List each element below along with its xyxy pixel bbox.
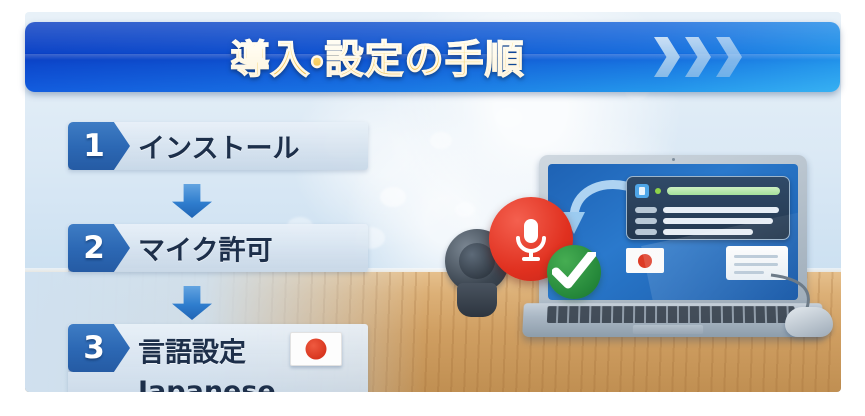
arrow-down-icon (172, 286, 212, 320)
header-banner: 導入・設定の手順 (25, 22, 840, 92)
bokeh-blob (495, 107, 523, 128)
step-sublabel: Japanese (138, 376, 276, 392)
laptop-trackpad (633, 325, 703, 334)
laptop-illustration (523, 155, 823, 355)
japan-flag-icon (290, 332, 342, 366)
bokeh-blob (430, 132, 452, 149)
dialog-label-bar (635, 218, 657, 224)
chevron-right-icon (654, 37, 680, 77)
check-glyph (552, 252, 596, 292)
step-label: インストール (138, 127, 299, 166)
bokeh-blob (455, 202, 475, 217)
highlight-field (667, 187, 780, 195)
step-label: 言語設定 (138, 331, 246, 370)
chevron-right-icon (685, 37, 711, 77)
dialog-field-bar (663, 229, 753, 235)
step-number: 3 (72, 330, 116, 366)
dialog-field-bar (663, 207, 779, 213)
computer-mouse-icon (785, 307, 833, 337)
microphone-glyph (511, 215, 551, 263)
dialog-label-bar (635, 207, 657, 213)
chevron-group (654, 37, 742, 77)
settings-dialog (626, 176, 790, 240)
step-label: マイク許可 (138, 229, 272, 268)
laptop-keyboard (547, 306, 795, 323)
chevron-right-icon (716, 37, 742, 77)
check-mark-icon (547, 245, 601, 299)
webcam-stand (457, 283, 497, 317)
japan-flag-icon (626, 248, 664, 273)
status-dot-green-icon (655, 188, 661, 194)
dialog-label-bar (635, 229, 657, 235)
steps-list: 1 インストール 2 マイク許可 3 言語設定 Japane (50, 112, 410, 392)
arrow-down-icon (172, 184, 212, 218)
laptop-camera-icon (672, 158, 675, 161)
screenshot-root: 1 インストール 2 マイク許可 3 言語設定 Japane (0, 0, 865, 416)
app-icon (635, 184, 649, 198)
step-number: 1 (72, 128, 116, 164)
dialog-field-bar (663, 218, 773, 224)
step-number: 2 (72, 230, 116, 266)
